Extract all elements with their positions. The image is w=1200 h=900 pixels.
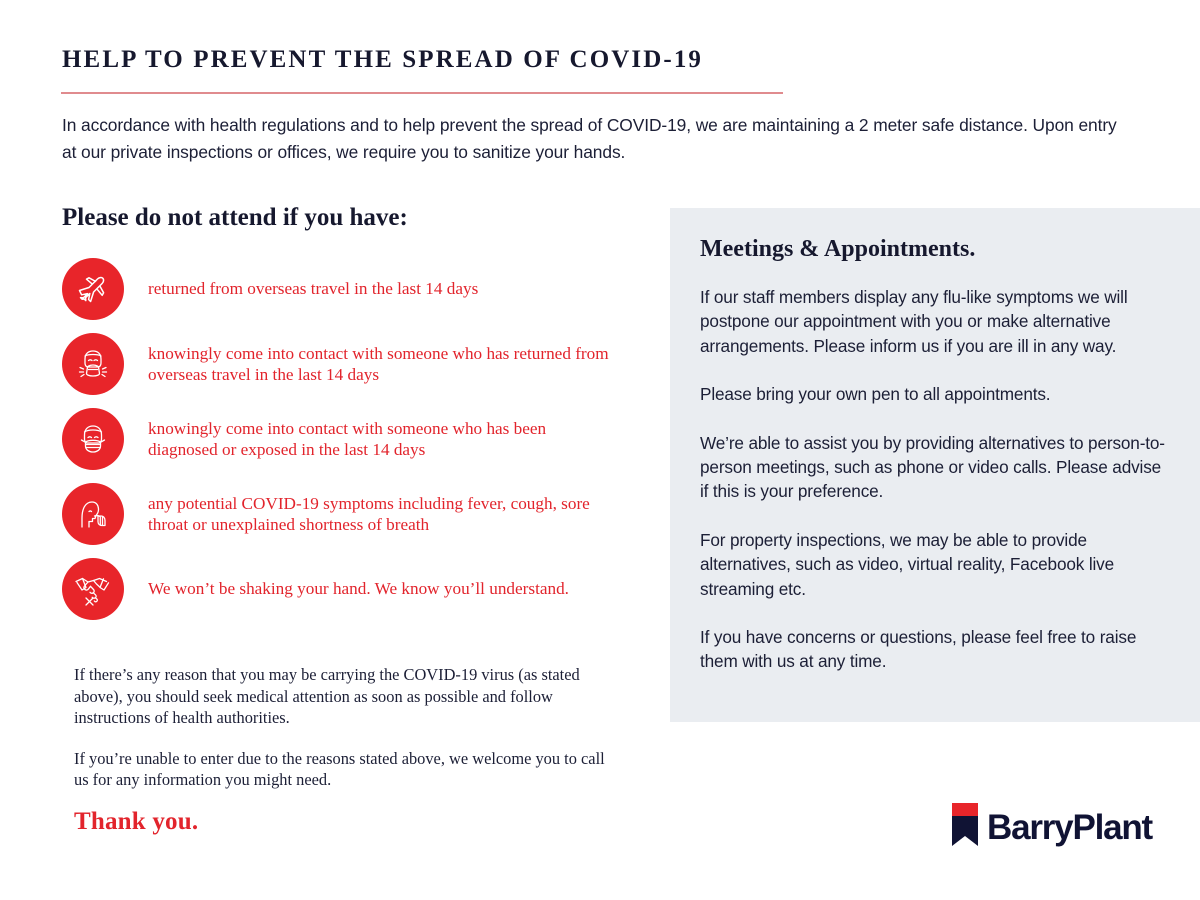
panel-heading: Meetings & Appointments.	[700, 236, 1166, 263]
panel-paragraph: We’re able to assist you by providing al…	[700, 431, 1166, 504]
list-item: We won’t be shaking your hand. We know y…	[62, 558, 662, 620]
section-heading: Please do not attend if you have:	[62, 204, 662, 232]
list-item: any potential COVID-19 symptoms includin…	[62, 483, 662, 545]
coughing-person-icon	[62, 483, 124, 545]
requirements-column: Please do not attend if you have: return…	[62, 204, 662, 633]
thank-you-text: Thank you.	[74, 808, 198, 836]
list-item-label: We won’t be shaking your hand. We know y…	[148, 578, 569, 600]
intro-paragraph: In accordance with health regulations an…	[62, 112, 1132, 166]
sneezing-face-icon	[62, 333, 124, 395]
panel-paragraph: If you have concerns or questions, pleas…	[700, 625, 1166, 674]
list-item-label: knowingly come into contact with someone…	[148, 343, 618, 386]
panel-paragraph: Please bring your own pen to all appoint…	[700, 382, 1166, 406]
panel-paragraph: For property inspections, we may be able…	[700, 528, 1166, 601]
face-mask-icon	[62, 408, 124, 470]
list-item: knowingly come into contact with someone…	[62, 408, 662, 470]
poster-canvas: HELP TO PREVENT THE SPREAD OF COVID-19 I…	[0, 0, 1200, 900]
list-item-label: knowingly come into contact with someone…	[148, 418, 618, 461]
title-divider	[61, 92, 783, 94]
brand-name: BarryPlant	[987, 810, 1152, 845]
list-item: knowingly come into contact with someone…	[62, 333, 662, 395]
bookmark-icon	[952, 803, 978, 851]
meetings-panel: Meetings & Appointments. If our staff me…	[670, 208, 1200, 722]
list-item-label: returned from overseas travel in the las…	[148, 278, 478, 300]
footnotes: If there’s any reason that you may be ca…	[74, 664, 614, 810]
page-title: HELP TO PREVENT THE SPREAD OF COVID-19	[62, 46, 703, 74]
no-handshake-icon	[62, 558, 124, 620]
panel-paragraph: If our staff members display any flu-lik…	[700, 285, 1166, 358]
list-item-label: any potential COVID-19 symptoms includin…	[148, 493, 618, 536]
airplane-icon	[62, 258, 124, 320]
brand-logo: BarryPlant	[952, 803, 1152, 851]
do-not-attend-list: returned from overseas travel in the las…	[62, 258, 662, 620]
footnote-paragraph: If there’s any reason that you may be ca…	[74, 664, 614, 729]
list-item: returned from overseas travel in the las…	[62, 258, 662, 320]
footnote-paragraph: If you’re unable to enter due to the rea…	[74, 748, 614, 791]
